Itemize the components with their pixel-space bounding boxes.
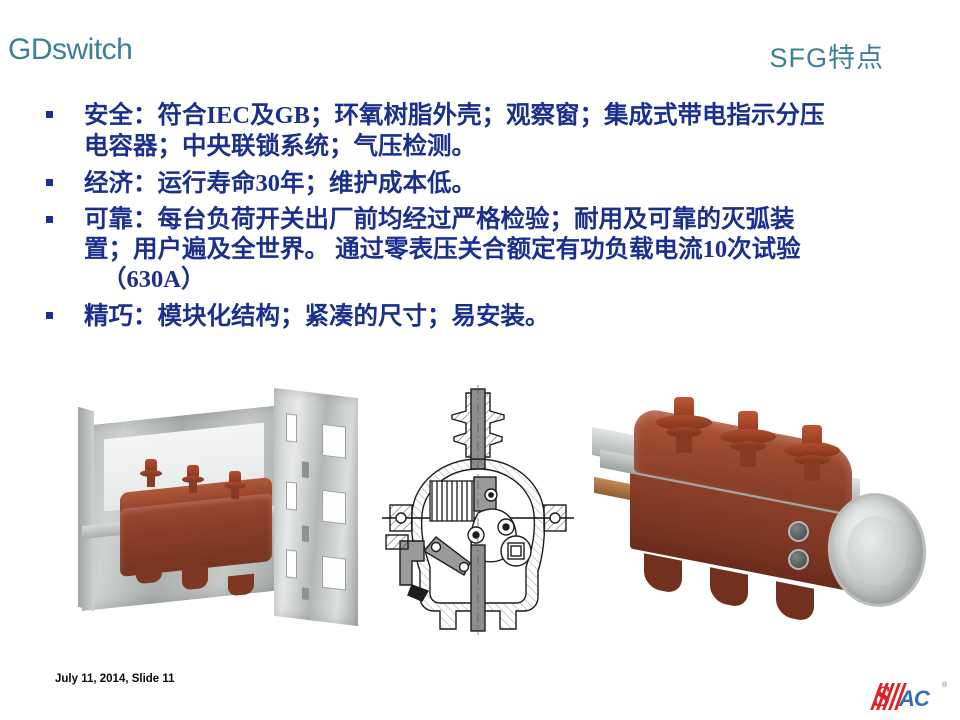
bushing [656, 397, 712, 455]
bushing [224, 471, 246, 501]
square-bullet-icon [46, 312, 53, 319]
square-bullet-icon [46, 179, 53, 186]
registered-trademark-icon: ® [942, 682, 947, 689]
bullet-item-safety: 安全：符合IEC及GB；环氧树脂外壳；观察窗；集成式带电指示分压 电容器；中央联… [40, 100, 930, 162]
cabinet-left-panel [78, 407, 94, 612]
cable-port [788, 521, 809, 542]
feature-bullet-list: 安全：符合IEC及GB；环氧树脂外壳；观察窗；集成式带电指示分压 电容器；中央联… [40, 100, 930, 338]
tank-foot [710, 567, 748, 608]
bullet-item-reliability: 可靠：每台负荷开关出厂前均经过严格检验；耐用及可靠的灭弧装 置；用户遍及全世界。… [40, 205, 930, 295]
cross-section-svg [378, 385, 578, 635]
cover-recess [843, 513, 911, 590]
bushing [720, 411, 776, 469]
bullet-line: 安全：符合IEC及GB；环氧树脂外壳；观察窗；集成式带电指示分压 [84, 100, 930, 131]
bushing [140, 459, 162, 489]
fig-cross-section-drawing [378, 385, 578, 635]
bullet-line: 经济：运行寿命30年；维护成本低。 [84, 168, 930, 199]
bushing [182, 465, 204, 495]
company-logo-sac: S AC ® [872, 680, 950, 714]
logo-letters-ac: AC [899, 688, 929, 710]
page-title: SFG特点 [769, 36, 884, 75]
bushing [784, 425, 840, 483]
bullet-item-economy: 经济：运行寿命30年；维护成本低。 [40, 168, 930, 199]
bullet-item-compactness: 精巧：模块化结构；紧凑的尺寸；易安装。 [40, 301, 930, 332]
footer-date-slide: July 11, 2014, Slide 11 [55, 673, 175, 685]
bullet-line: 电容器；中央联锁系统；气压检测。 [84, 131, 930, 162]
bullet-line: （630A） [84, 265, 930, 295]
cable-port [788, 549, 809, 570]
bullet-line: 精巧：模块化结构；紧凑的尺寸；易安装。 [84, 301, 930, 332]
square-bullet-icon [46, 111, 53, 118]
bullet-line: 置；用户遍及全世界。 通过零表压关合额定有功负载电流10次试验 [84, 235, 930, 265]
square-bullet-icon [46, 216, 53, 223]
tank-foot [644, 553, 682, 594]
cabinet-door [274, 388, 358, 626]
slide-canvas: GDswitch SFG特点 安全：符合IEC及GB；环氧树脂外壳；观察窗；集成… [0, 0, 960, 720]
product-image-strip [0, 385, 960, 635]
fig-cabinet-image [78, 393, 363, 628]
brand-logo-gdswitch: GDswitch [8, 33, 132, 67]
logo-letter-s: S [874, 682, 891, 712]
tank-foot [776, 581, 814, 622]
fig-tank-assembly-image [592, 397, 922, 632]
bullet-line: 可靠：每台负荷开关出厂前均经过严格检验；耐用及可靠的灭弧装 [84, 205, 930, 235]
